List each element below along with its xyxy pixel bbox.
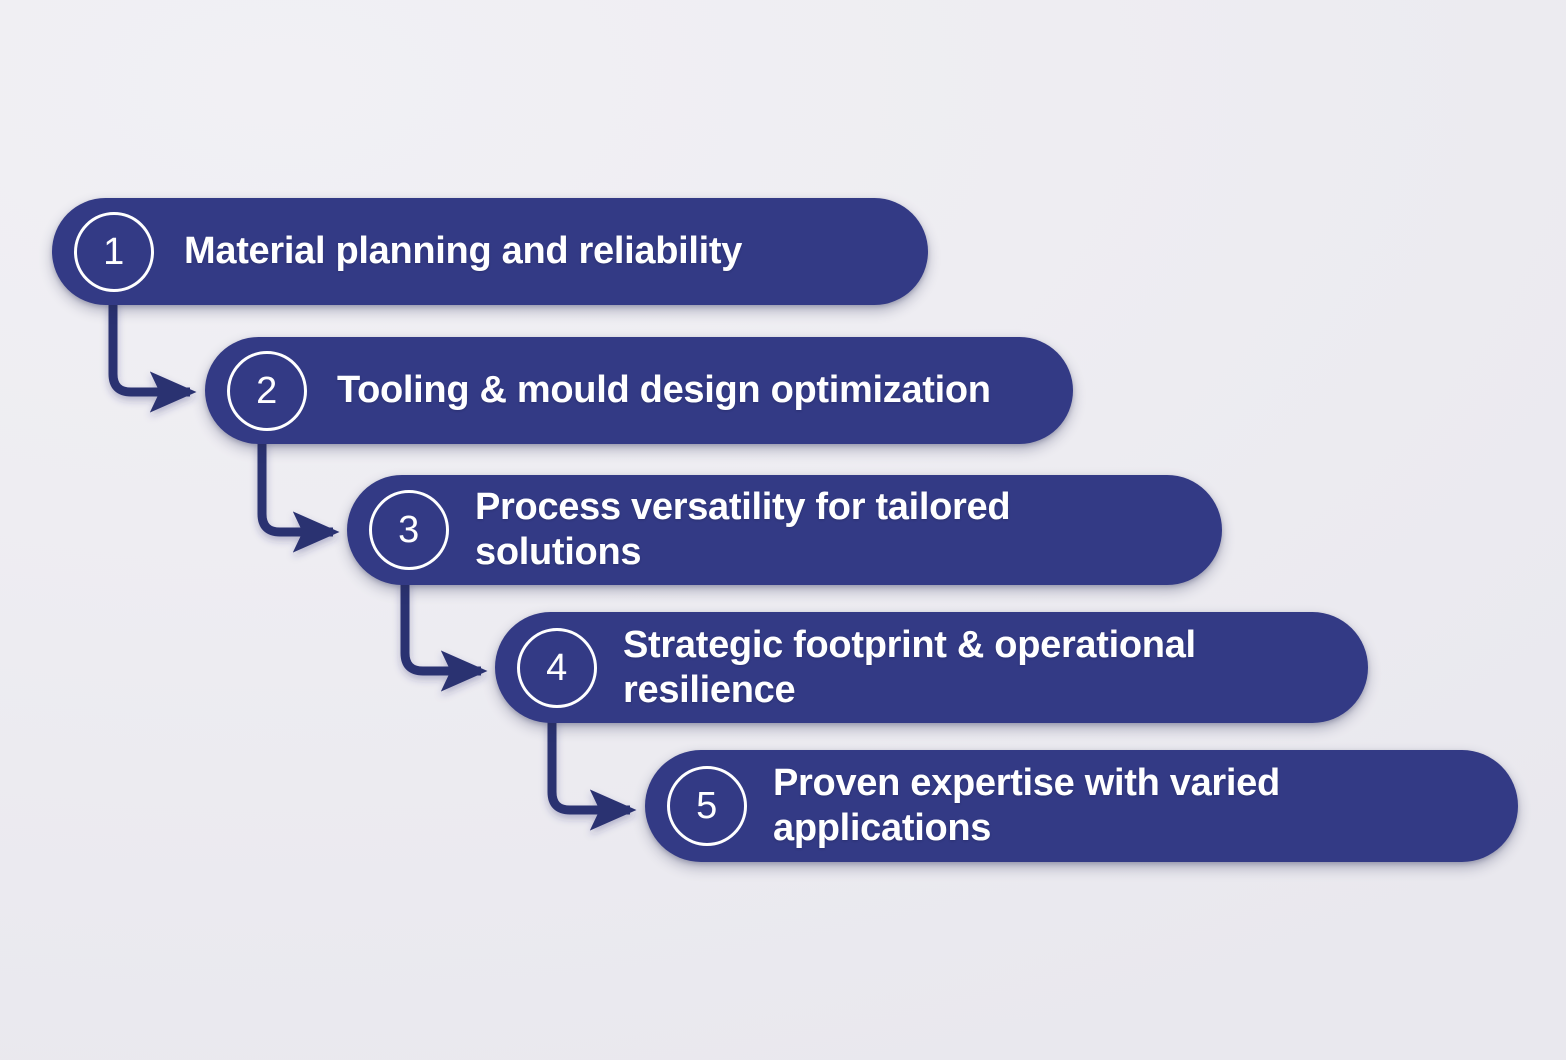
process-step-1[interactable]: 1 Material planning and reliability	[52, 198, 928, 305]
step-number-badge-2: 2	[227, 351, 307, 431]
connector-3-to-4	[405, 580, 481, 671]
step-number-badge-1: 1	[74, 212, 154, 292]
process-step-2[interactable]: 2 Tooling & mould design optimization	[205, 337, 1073, 444]
step-label-4: Strategic footprint & operational resili…	[623, 623, 1334, 713]
step-label-1: Material planning and reliability	[184, 229, 894, 274]
process-step-3[interactable]: 3 Process versatility for tailored solut…	[347, 475, 1222, 585]
step-label-2: Tooling & mould design optimization	[337, 368, 1039, 413]
step-label-3: Process versatility for tailored solutio…	[475, 485, 1188, 575]
connector-1-to-2	[113, 300, 190, 392]
process-step-5[interactable]: 5 Proven expertise with varied applicati…	[645, 750, 1518, 862]
step-number-badge-5: 5	[667, 766, 747, 846]
step-number-badge-3: 3	[369, 490, 449, 570]
connector-2-to-3	[262, 440, 333, 532]
step-label-5: Proven expertise with varied application…	[773, 761, 1484, 851]
step-number-badge-4: 4	[517, 628, 597, 708]
diagram-canvas: 1 Material planning and reliability 2 To…	[0, 0, 1566, 1060]
connector-4-to-5	[552, 719, 630, 810]
process-step-4[interactable]: 4 Strategic footprint & operational resi…	[495, 612, 1368, 723]
